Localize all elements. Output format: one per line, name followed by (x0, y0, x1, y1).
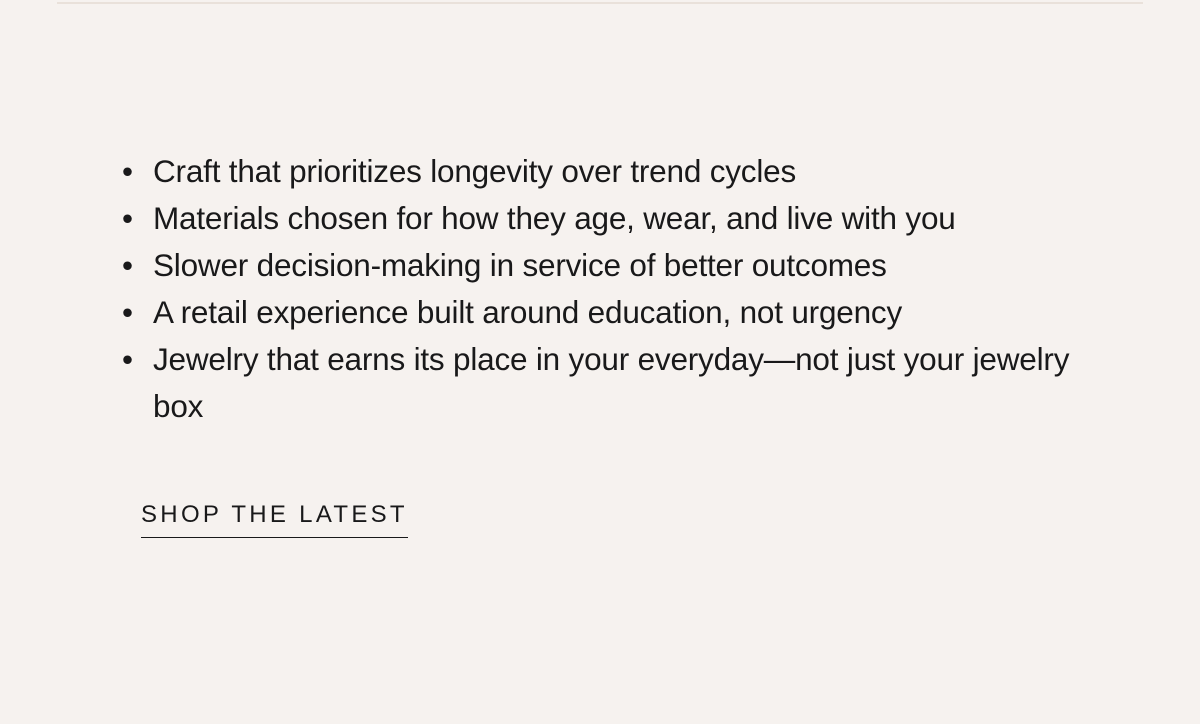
list-item: • Jewelry that earns its place in your e… (122, 336, 1102, 430)
list-item: • Materials chosen for how they age, wea… (122, 195, 1102, 242)
list-item-label: Materials chosen for how they age, wear,… (153, 200, 956, 236)
list-item: • Craft that prioritizes longevity over … (122, 148, 1102, 195)
list-item: • A retail experience built around educa… (122, 289, 1102, 336)
list-item-label: Craft that prioritizes longevity over tr… (153, 153, 796, 189)
shop-the-latest-link[interactable]: SHOP THE LATEST (141, 500, 408, 538)
cta-container: SHOP THE LATEST (122, 500, 1200, 538)
list-item-label: Jewelry that earns its place in your eve… (153, 341, 1069, 424)
bullet-icon: • (122, 336, 133, 383)
list-item-label: Slower decision-making in service of bet… (153, 247, 887, 283)
bullet-icon: • (122, 195, 133, 242)
brand-values-list: • Craft that prioritizes longevity over … (122, 148, 1102, 430)
bullet-icon: • (122, 242, 133, 289)
brand-values-section: • Craft that prioritizes longevity over … (0, 0, 1200, 724)
bullet-icon: • (122, 289, 133, 336)
bullet-icon: • (122, 148, 133, 195)
list-item-label: A retail experience built around educati… (153, 294, 902, 330)
list-item: • Slower decision-making in service of b… (122, 242, 1102, 289)
